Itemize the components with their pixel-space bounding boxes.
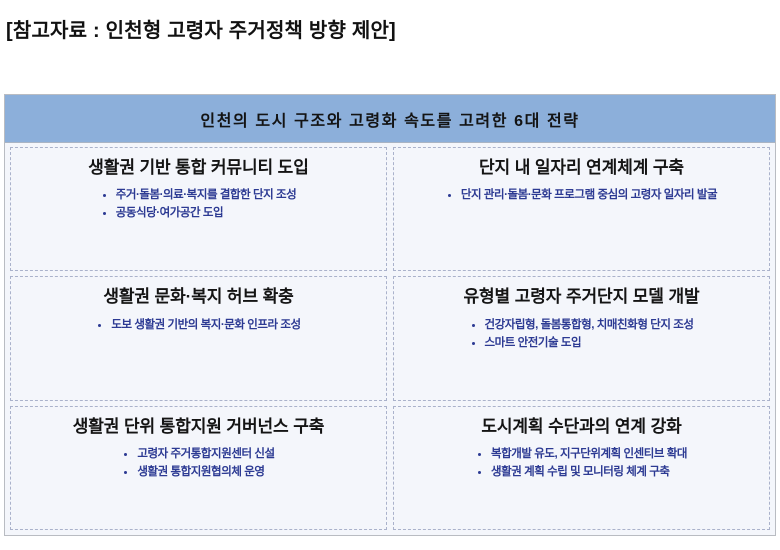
strategy-bullet: 생활권 계획 수립 및 모니터링 체계 구축 — [476, 464, 687, 482]
table-header-band: 인천의 도시 구조와 고령화 속도를 고려한 6대 전략 — [5, 95, 775, 143]
strategy-cell: 단지 내 일자리 연계체계 구축 단지 관리·돌봄·문화 프로그램 중심의 고령… — [393, 147, 770, 271]
strategy-bullet-list: 단지 관리·돌봄·문화 프로그램 중심의 고령자 일자리 발굴 — [446, 187, 717, 205]
strategy-bullet: 도보 생활권 기반의 복지·문화 인프라 조성 — [96, 317, 300, 335]
strategy-title: 생활권 기반 통합 커뮤니티 도입 — [88, 158, 309, 178]
strategy-bullet: 생활권 통합지원협의체 운영 — [122, 464, 274, 482]
strategy-bullet: 건강자립형, 돌봄통합형, 치매친화형 단지 조성 — [470, 317, 694, 335]
strategy-title: 도시계획 수단과의 연계 강화 — [481, 417, 681, 437]
strategy-table: 인천의 도시 구조와 고령화 속도를 고려한 6대 전략 생활권 기반 통합 커… — [4, 94, 776, 536]
strategy-grid: 생활권 기반 통합 커뮤니티 도입 주거·돌봄·의료·복지를 결합한 단지 조성… — [5, 143, 775, 535]
strategy-bullet-list: 고령자 주거통합지원센터 신설 생활권 통합지원협의체 운영 — [122, 446, 274, 482]
strategy-title: 생활권 문화·복지 허브 확충 — [103, 287, 293, 307]
strategy-bullet-list: 주거·돌봄·의료·복지를 결합한 단지 조성 공동식당·여가공간 도입 — [101, 187, 296, 223]
table-header-title: 인천의 도시 구조와 고령화 속도를 고려한 6대 전략 — [200, 107, 579, 131]
strategy-row: 생활권 단위 통합지원 거버넌스 구축 고령자 주거통합지원센터 신설 생활권 … — [10, 406, 770, 530]
strategy-bullet: 주거·돌봄·의료·복지를 결합한 단지 조성 — [101, 187, 296, 205]
document-page: [참고자료 : 인천형 고령자 주거정책 방향 제안] 인천의 도시 구조와 고… — [0, 0, 780, 550]
strategy-row: 생활권 문화·복지 허브 확충 도보 생활권 기반의 복지·문화 인프라 조성 … — [10, 276, 770, 400]
strategy-bullet: 스마트 안전기술 도입 — [470, 335, 694, 353]
strategy-row: 생활권 기반 통합 커뮤니티 도입 주거·돌봄·의료·복지를 결합한 단지 조성… — [10, 147, 770, 271]
strategy-cell: 도시계획 수단과의 연계 강화 복합개발 유도, 지구단위계획 인센티브 확대 … — [393, 406, 770, 530]
strategy-bullet: 단지 관리·돌봄·문화 프로그램 중심의 고령자 일자리 발굴 — [446, 187, 717, 205]
strategy-bullet-list: 건강자립형, 돌봄통합형, 치매친화형 단지 조성 스마트 안전기술 도입 — [470, 317, 694, 353]
strategy-title: 단지 내 일자리 연계체계 구축 — [479, 158, 684, 178]
strategy-cell: 생활권 문화·복지 허브 확충 도보 생활권 기반의 복지·문화 인프라 조성 — [10, 276, 387, 400]
strategy-cell: 유형별 고령자 주거단지 모델 개발 건강자립형, 돌봄통합형, 치매친화형 단… — [393, 276, 770, 400]
strategy-cell: 생활권 단위 통합지원 거버넌스 구축 고령자 주거통합지원센터 신설 생활권 … — [10, 406, 387, 530]
strategy-bullet-list: 복합개발 유도, 지구단위계획 인센티브 확대 생활권 계획 수립 및 모니터링… — [476, 446, 687, 482]
strategy-bullet: 공동식당·여가공간 도입 — [101, 205, 296, 223]
strategy-bullet-list: 도보 생활권 기반의 복지·문화 인프라 조성 — [96, 317, 300, 335]
strategy-title: 유형별 고령자 주거단지 모델 개발 — [463, 287, 699, 307]
strategy-cell: 생활권 기반 통합 커뮤니티 도입 주거·돌봄·의료·복지를 결합한 단지 조성… — [10, 147, 387, 271]
strategy-bullet: 고령자 주거통합지원센터 신설 — [122, 446, 274, 464]
page-title: [참고자료 : 인천형 고령자 주거정책 방향 제안] — [6, 14, 396, 43]
strategy-title: 생활권 단위 통합지원 거버넌스 구축 — [73, 417, 325, 437]
strategy-bullet: 복합개발 유도, 지구단위계획 인센티브 확대 — [476, 446, 687, 464]
